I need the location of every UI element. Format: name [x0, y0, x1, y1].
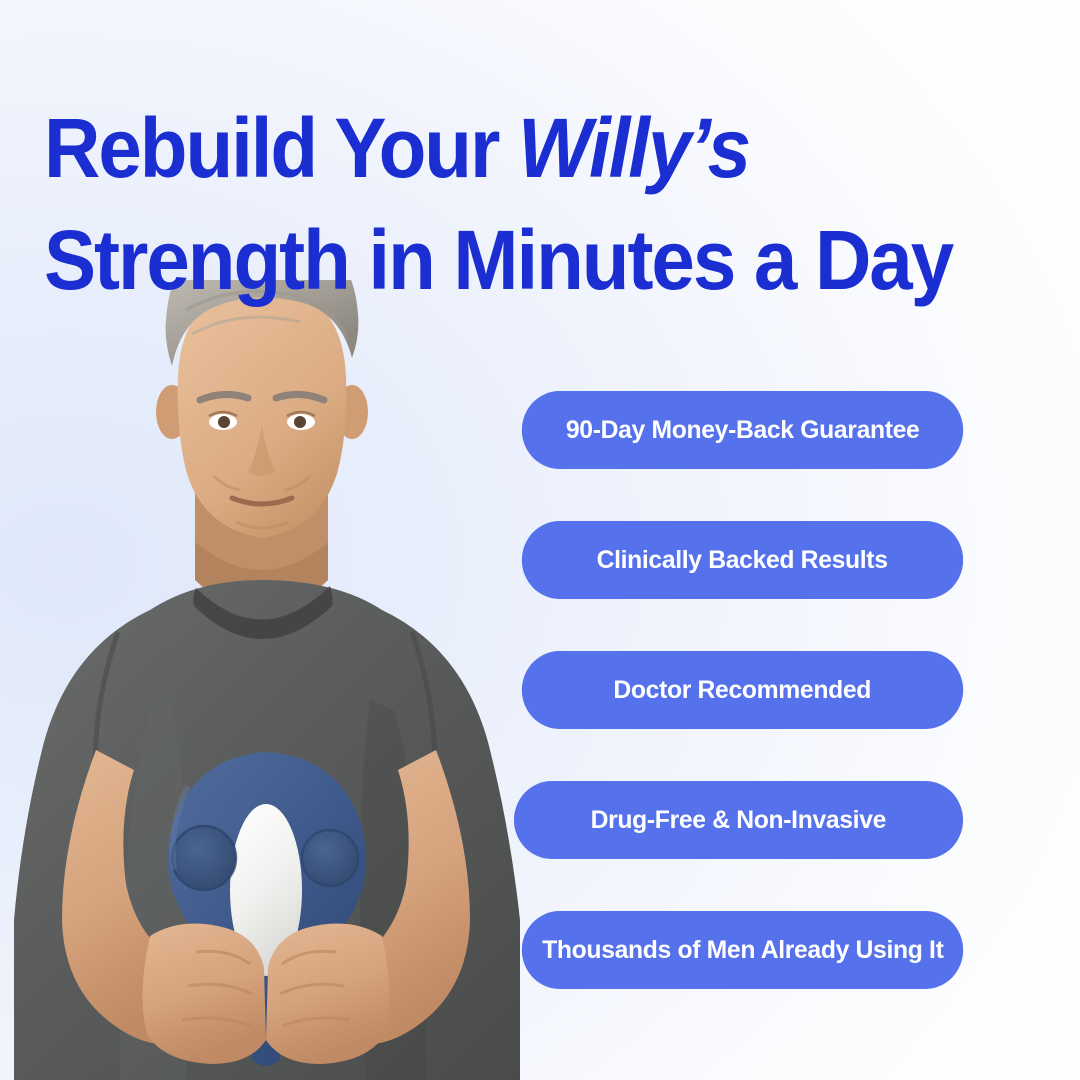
- ad-creative: Rebuild Your Willy’s Strength in Minutes…: [0, 0, 1080, 1080]
- finger-line-2: [188, 984, 252, 994]
- sleeve-seam-left: [95, 632, 118, 800]
- badge-thousands-of-men[interactable]: Thousands of Men Already Using It: [522, 911, 963, 989]
- device-body: [168, 752, 366, 1066]
- device-white-panel: [230, 804, 302, 976]
- device-pad-left-ring: [172, 826, 236, 890]
- device-highlight: [173, 786, 188, 870]
- eye-white-left: [209, 414, 237, 430]
- eyelid-left: [209, 412, 237, 416]
- cheek-line-left: [214, 476, 240, 490]
- shirt-body: [14, 580, 520, 1080]
- arm-left: [62, 750, 196, 1044]
- finger-line-4: [282, 951, 336, 964]
- neck: [195, 485, 328, 614]
- hair-strand-2: [192, 317, 300, 334]
- headline-line-2: Strength in Minutes a Day: [44, 204, 974, 316]
- iris-right: [294, 416, 306, 428]
- shirt-fold-left: [120, 700, 191, 1080]
- finger-line-1: [196, 951, 250, 964]
- benefit-badge-list: 90-Day Money-Back Guarantee Clinically B…: [515, 391, 970, 989]
- headline-emphasis-willys: Willy’s: [518, 101, 749, 195]
- finger-line-6: [282, 1018, 350, 1026]
- device-pad-right: [302, 830, 358, 886]
- chin-line: [236, 522, 288, 528]
- badge-label: Drug-Free & Non-Invasive: [591, 806, 886, 835]
- iris-left: [218, 416, 230, 428]
- eyelid-right: [287, 412, 315, 416]
- mouth: [232, 498, 292, 504]
- badge-label: Thousands of Men Already Using It: [542, 936, 943, 965]
- arm-right: [336, 750, 470, 1044]
- hand-left: [142, 924, 266, 1065]
- neck-shadow: [195, 542, 328, 604]
- eye-white-right: [287, 414, 315, 430]
- ear-right: [336, 385, 368, 439]
- badge-label: 90-Day Money-Back Guarantee: [566, 416, 920, 445]
- cheek-line-right: [284, 476, 310, 490]
- badge-money-back-guarantee[interactable]: 90-Day Money-Back Guarantee: [522, 391, 963, 469]
- shirt-collar: [193, 586, 332, 639]
- massage-device: [168, 752, 366, 1066]
- hand-right: [266, 924, 390, 1065]
- badge-label: Clinically Backed Results: [597, 546, 888, 575]
- eyebrow-right: [276, 394, 324, 400]
- ear-left: [156, 385, 188, 439]
- finger-line-3: [182, 1018, 250, 1026]
- hero-photo-svg: [0, 280, 560, 1080]
- badge-doctor-recommended[interactable]: Doctor Recommended: [522, 651, 963, 729]
- sleeve-seam-right: [412, 632, 435, 800]
- device-pad-left: [172, 826, 236, 890]
- nose: [248, 426, 276, 476]
- badge-drug-free-non-invasive[interactable]: Drug-Free & Non-Invasive: [514, 781, 963, 859]
- shirt-fold-right: [360, 700, 427, 1080]
- device-pad-right-ring: [302, 830, 358, 886]
- head: [156, 280, 368, 538]
- badge-label: Doctor Recommended: [614, 676, 872, 705]
- badge-clinically-backed[interactable]: Clinically Backed Results: [522, 521, 963, 599]
- page-title: Rebuild Your Willy’s Strength in Minutes…: [44, 92, 974, 316]
- eyebrow-left: [200, 394, 248, 400]
- headline-line-1-text: Rebuild Your: [44, 101, 518, 195]
- hero-photo-man-with-device: [0, 280, 560, 1080]
- headline-line-1: Rebuild Your Willy’s: [44, 92, 974, 204]
- finger-line-5: [280, 984, 344, 994]
- face: [178, 288, 347, 538]
